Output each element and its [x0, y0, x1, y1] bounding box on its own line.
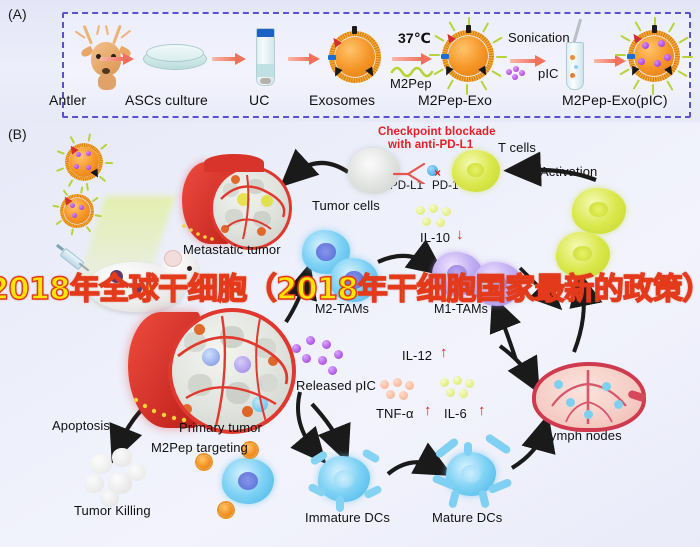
- ultracentrifuge-tube: [256, 28, 275, 86]
- label-il6: IL-6: [444, 406, 467, 421]
- label-antler: Antler: [49, 92, 86, 108]
- tnf-up-arrow: ↑: [424, 402, 432, 419]
- label-released-pic: Released pIC: [296, 378, 376, 393]
- targeting-exosome-1: [194, 452, 214, 472]
- label-mature-dcs: Mature DCs: [432, 510, 502, 525]
- label-t-cells: T cells: [498, 140, 536, 155]
- panel-b-letter: (B): [8, 126, 27, 142]
- label-il10: IL-10: [420, 230, 450, 245]
- apoptotic-cell-illustration: [82, 448, 152, 508]
- arrow-sonication: [510, 56, 546, 65]
- watermark-text: 2018年全球干细胞（2018年干细胞国家最新的政策）: [0, 264, 700, 308]
- label-apoptosis: Apoptosis: [52, 418, 110, 433]
- label-checkpoint-line1: Checkpoint blockade: [378, 126, 496, 138]
- label-ascs-culture: ASCs culture: [125, 92, 208, 108]
- t-cell-engaged: [452, 150, 500, 192]
- lymph-node-illustration: [532, 362, 642, 428]
- injected-exosome-2: [58, 192, 96, 230]
- label-uc: UC: [249, 92, 269, 108]
- label-m2pep: M2Pep: [390, 76, 432, 91]
- targeting-exosome-3: [216, 500, 236, 520]
- figure-canvas: (A) Antler ASCs culture: [0, 0, 700, 547]
- t-cell-activated-1: [572, 188, 626, 234]
- blocked-x-icon: ×: [434, 166, 448, 178]
- label-primary-tumor: Primary tumor: [179, 420, 262, 435]
- label-immature-dcs: Immature DCs: [305, 510, 390, 525]
- il6-up-arrow: ↑: [478, 402, 486, 419]
- pic-cluster-icon: [506, 66, 536, 80]
- injected-exosome-1: [62, 140, 106, 184]
- label-temperature: 37℃: [398, 30, 431, 47]
- arrow-uc-to-exosomes: [288, 54, 320, 63]
- tnf-alpha-cytokine-dots: [380, 378, 420, 404]
- released-pic-dots: [292, 336, 348, 378]
- arrow-to-final-product: [594, 56, 626, 65]
- label-exosomes: Exosomes: [309, 92, 375, 108]
- il10-cytokine-dots: [416, 204, 458, 232]
- label-checkpoint-line2: with anti-PD-L1: [388, 139, 473, 151]
- il6-cytokine-dots: [440, 376, 480, 402]
- mature-dc-illustration: [432, 440, 512, 508]
- sonicator-illustration: [556, 22, 592, 90]
- primary-tumor-illustration: [128, 300, 306, 430]
- il12-up-arrow: ↑: [440, 344, 448, 361]
- exosome-particle: [326, 28, 384, 86]
- label-il12: IL-12: [402, 348, 432, 363]
- immature-dc-illustration: [308, 448, 382, 510]
- label-m2pep-exo-pic: M2Pep-Exo(pIC): [562, 92, 668, 108]
- targeted-m2-tam-cell: [222, 458, 274, 504]
- label-tumor-cells: Tumor cells: [312, 198, 380, 213]
- arrow-culture-to-uc: [212, 54, 246, 63]
- m2pep-exosome-particle: [438, 26, 498, 86]
- panel-a-letter: (A): [8, 6, 27, 22]
- metastatic-tumor-illustration: [178, 152, 294, 252]
- m2pep-exosome-pic-particle: [624, 26, 684, 86]
- arrow-antler-to-culture: [100, 54, 134, 63]
- label-metastatic-tumor: Metastatic tumor: [183, 242, 281, 257]
- panel-a: (A) Antler ASCs culture: [0, 0, 700, 122]
- petri-dish-illustration: [143, 44, 205, 72]
- label-tnf-alpha: TNF-α: [376, 406, 414, 421]
- label-activation: Activation: [540, 164, 597, 179]
- label-m2pep-exo: M2Pep-Exo: [418, 92, 492, 108]
- label-m2pep-targeting: M2Pep targeting: [151, 440, 248, 455]
